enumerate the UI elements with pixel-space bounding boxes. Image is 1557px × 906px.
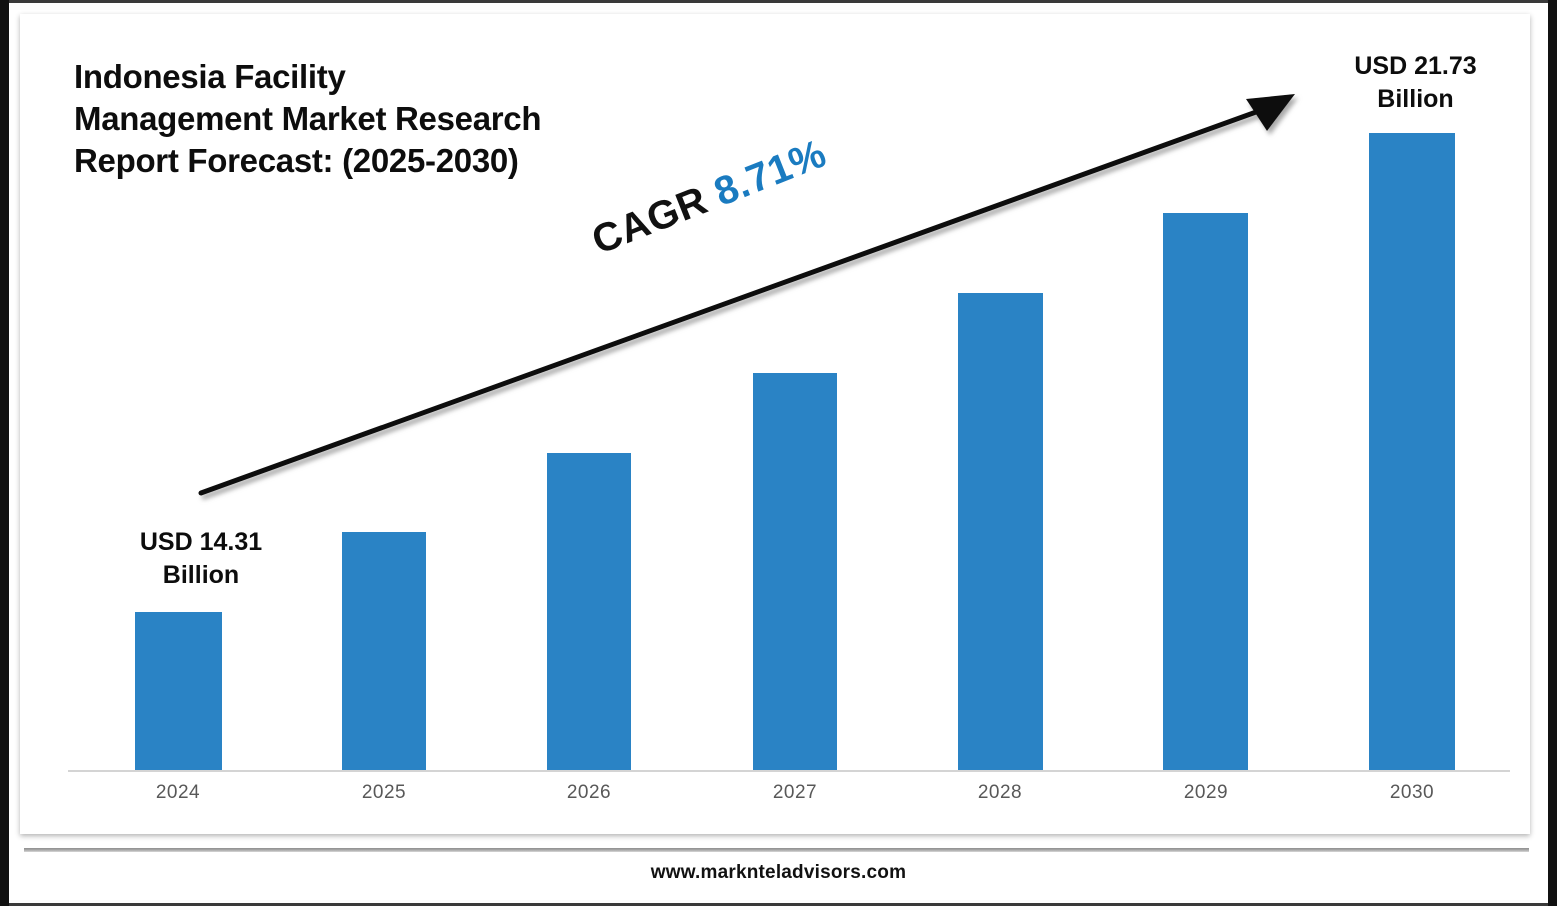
chart-page: Indonesia Facility Management Market Res… <box>0 0 1557 906</box>
value-callout-start: USD 14.31 Billion <box>96 526 306 592</box>
bar-2025[interactable] <box>342 532 426 770</box>
x-tick-2029: 2029 <box>1156 782 1256 804</box>
x-tick-2025: 2025 <box>334 782 434 804</box>
frame-border-top <box>9 0 1548 3</box>
x-axis-line <box>68 770 1510 772</box>
bar-2024[interactable] <box>135 612 222 770</box>
x-tick-2028: 2028 <box>950 782 1050 804</box>
bar-2030[interactable] <box>1369 133 1455 770</box>
cagr-annotation: CAGR 8.71% <box>586 131 833 264</box>
value-callout-end: USD 21.73 Billion <box>1308 50 1523 116</box>
bar-2026[interactable] <box>547 453 631 770</box>
footer-divider <box>24 848 1529 852</box>
bar-2027[interactable] <box>753 373 837 770</box>
plot-area: 2024 2025 2026 2027 2028 2029 2030 CAGR <box>20 14 1530 834</box>
x-tick-2027: 2027 <box>745 782 845 804</box>
frame-border-left <box>0 0 9 906</box>
x-tick-2026: 2026 <box>539 782 639 804</box>
cagr-label-text: CAGR <box>586 178 714 263</box>
footer-website-url[interactable]: www.marknteladvisors.com <box>0 862 1557 884</box>
frame-border-right <box>1548 0 1557 906</box>
cagr-value-text: 8.71% <box>708 131 832 214</box>
x-tick-2030: 2030 <box>1362 782 1462 804</box>
bar-2029[interactable] <box>1163 213 1248 770</box>
x-tick-2024: 2024 <box>128 782 228 804</box>
chart-card: Indonesia Facility Management Market Res… <box>20 14 1530 834</box>
bar-2028[interactable] <box>958 293 1043 770</box>
